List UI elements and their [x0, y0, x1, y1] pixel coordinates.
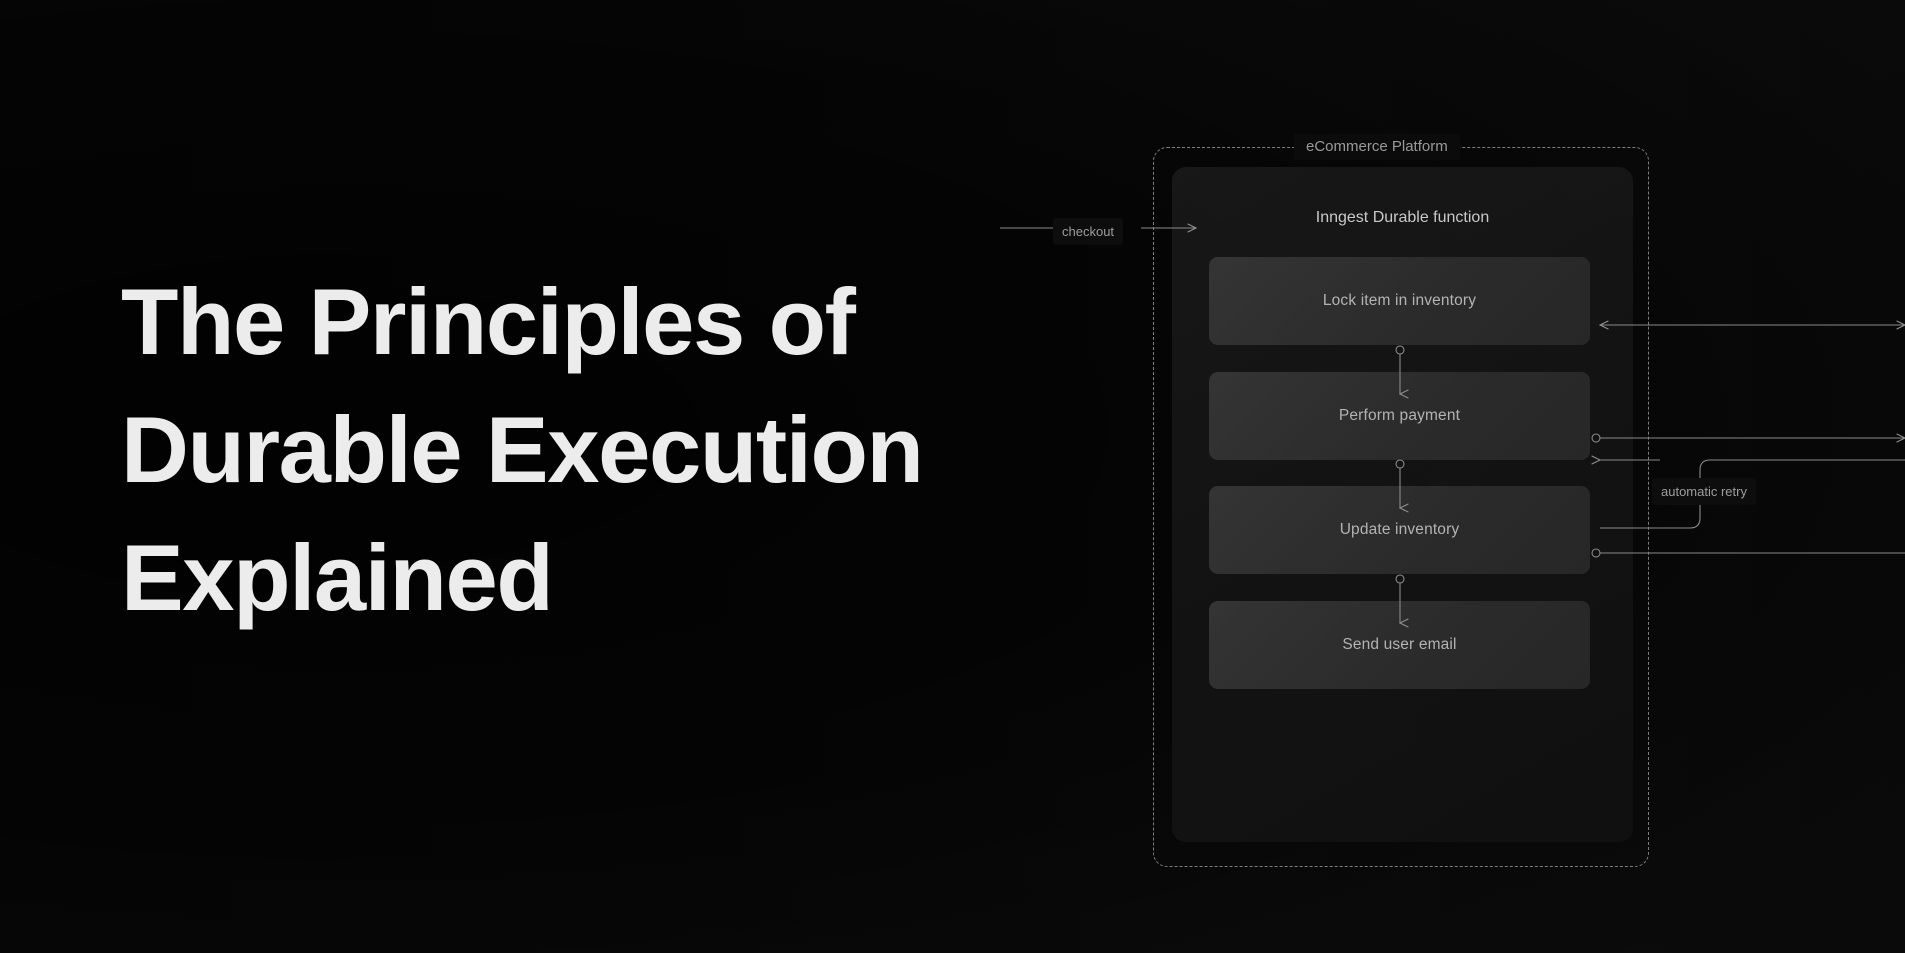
step-label: Update inventory	[1340, 520, 1460, 540]
step-box-perform-payment[interactable]: Perform payment	[1209, 372, 1590, 460]
inngest-durable-function-title: Inngest Durable function	[1172, 208, 1633, 228]
edge-label-checkout: checkout	[1053, 218, 1123, 245]
ecommerce-platform-label: eCommerce Platform	[1294, 134, 1460, 160]
step-label: Perform payment	[1339, 406, 1460, 426]
headline-line-2: Durable Execution	[121, 386, 1041, 514]
step-label: Send user email	[1342, 635, 1456, 655]
headline-line-3: Explained	[121, 514, 1041, 642]
edge-label-automatic-retry: automatic retry	[1652, 478, 1756, 505]
step-box-update-inventory[interactable]: Update inventory	[1209, 486, 1590, 574]
hero-banner: The Principles of Durable Execution Expl…	[0, 0, 1905, 953]
headline-line-1: The Principles of	[121, 258, 1041, 386]
step-label: Lock item in inventory	[1323, 291, 1476, 311]
page-title: The Principles of Durable Execution Expl…	[121, 258, 1041, 642]
step-box-lock-item-in-inventory[interactable]: Lock item in inventory	[1209, 257, 1590, 345]
step-box-send-user-email[interactable]: Send user email	[1209, 601, 1590, 689]
